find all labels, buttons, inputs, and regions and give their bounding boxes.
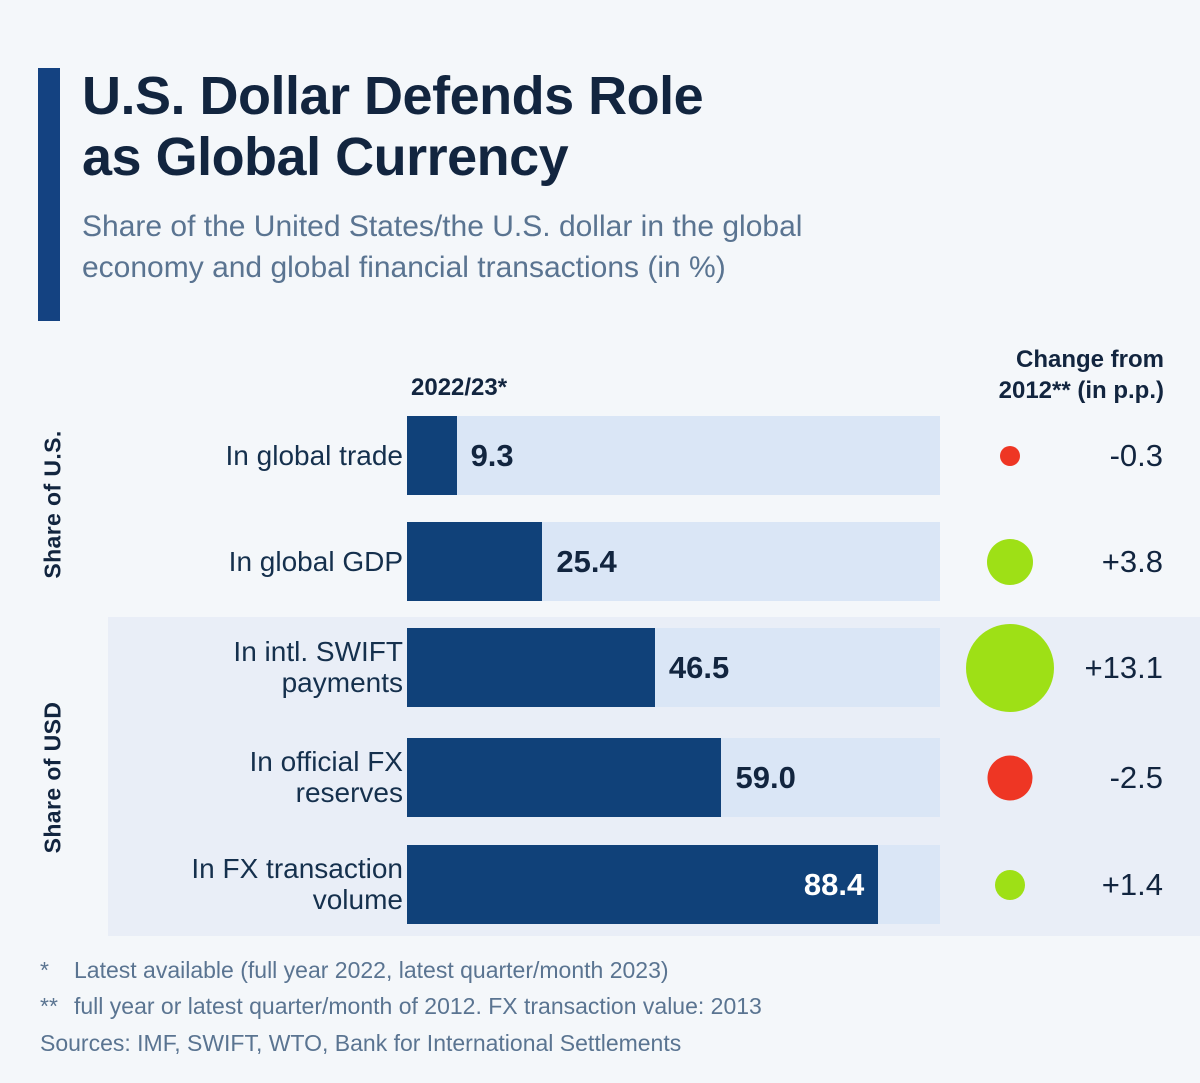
bar-value-label: 9.3 — [471, 438, 514, 474]
row-label-line-2: volume — [313, 885, 403, 916]
title-line-2: as Global Currency — [82, 127, 568, 187]
bar — [407, 416, 457, 495]
footnote-2: ** full year or latest quarter/month of … — [40, 988, 1160, 1024]
sources-line: Sources: IMF, SWIFT, WTO, Bank for Inter… — [40, 1025, 1160, 1061]
bar-value-label: 46.5 — [669, 650, 729, 686]
change-dot-positive — [966, 624, 1054, 712]
footnote-1-marker: * — [40, 952, 74, 988]
bar — [407, 522, 542, 601]
bar-track: 88.4 — [407, 845, 940, 924]
chart-row: In global GDP25.4+3.8 — [0, 522, 1200, 601]
bar-track: 59.0 — [407, 738, 940, 817]
bar — [407, 628, 655, 707]
bar-chart: Share of U.S. Share of USD In global tra… — [0, 406, 1200, 936]
chart-row: In official FXreserves59.0-2.5 — [0, 738, 1200, 817]
bar-track: 46.5 — [407, 628, 940, 707]
row-label-line-2: payments — [282, 668, 403, 699]
change-header-line-1: Change from — [1016, 346, 1164, 373]
bar-value-label: 59.0 — [735, 760, 795, 796]
accent-bar — [38, 68, 60, 321]
subtitle-line-2: economy and global financial transaction… — [82, 251, 726, 284]
change-header-line-2: 2012** (in p.p.) — [999, 377, 1164, 404]
row-label-line-2: reserves — [296, 778, 403, 809]
chart-row: In intl. SWIFTpayments46.5+13.1 — [0, 628, 1200, 707]
row-label: In global GDP — [100, 546, 403, 578]
footnotes: * Latest available (full year 2022, late… — [40, 952, 1160, 1061]
bar — [407, 738, 721, 817]
bar-track: 25.4 — [407, 522, 940, 601]
title-line-1: U.S. Dollar Defends Role — [82, 66, 703, 126]
chart-row: In global trade9.3-0.3 — [0, 416, 1200, 495]
footnote-2-marker: ** — [40, 988, 74, 1024]
change-dot-positive — [987, 539, 1033, 585]
change-dot-negative — [988, 755, 1033, 800]
bar-track: 9.3 — [407, 416, 940, 495]
bar-value-label: 88.4 — [804, 867, 864, 903]
row-label: In FX transactionvolume — [100, 853, 403, 917]
change-dot-negative — [1000, 446, 1020, 466]
change-column-header: Change from 2012** (in p.p.) — [864, 345, 1164, 406]
page-subtitle: Share of the United States/the U.S. doll… — [82, 206, 1168, 289]
footnote-1-text: Latest available (full year 2022, latest… — [74, 952, 669, 988]
change-value-label: +13.1 — [1085, 650, 1163, 686]
subtitle-line-1: Share of the United States/the U.S. doll… — [82, 210, 802, 243]
page-title: U.S. Dollar Defends Role as Global Curre… — [82, 64, 1168, 188]
row-label: In global trade — [100, 440, 403, 472]
sources-text: Sources: IMF, SWIFT, WTO, Bank for Inter… — [40, 1025, 681, 1061]
row-label: In intl. SWIFTpayments — [100, 636, 403, 700]
change-dot-positive — [995, 870, 1025, 900]
header-text: U.S. Dollar Defends Role as Global Curre… — [82, 64, 1168, 289]
chart-row: In FX transactionvolume88.4+1.4 — [0, 845, 1200, 924]
footnote-2-text: full year or latest quarter/month of 201… — [74, 988, 762, 1024]
change-value-label: +3.8 — [1102, 544, 1163, 580]
change-value-label: +1.4 — [1102, 867, 1163, 903]
infographic-page: U.S. Dollar Defends Role as Global Curre… — [0, 0, 1200, 1083]
change-value-label: -0.3 — [1110, 438, 1163, 474]
change-value-label: -2.5 — [1110, 760, 1163, 796]
bar-value-label: 25.4 — [556, 544, 616, 580]
value-column-header: 2022/23* — [411, 374, 507, 402]
row-label: In official FXreserves — [100, 746, 403, 810]
footnote-1: * Latest available (full year 2022, late… — [40, 952, 1160, 988]
header: U.S. Dollar Defends Role as Global Curre… — [38, 64, 1168, 289]
